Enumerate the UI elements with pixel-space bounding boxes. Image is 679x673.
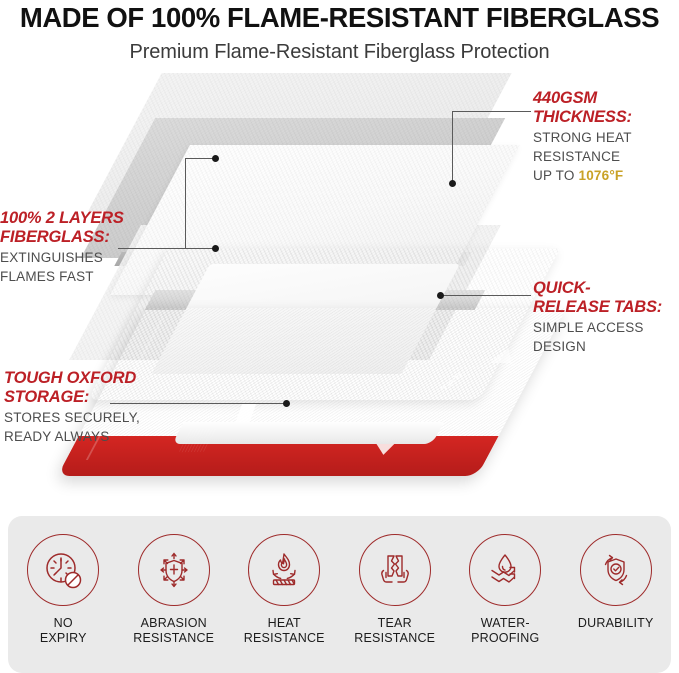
feature-icon-circle <box>248 534 320 606</box>
feature-icon-circle <box>138 534 210 606</box>
leader-line-layers-vertical <box>185 158 186 249</box>
callout-thickness-body: STRONG HEAT RESISTANCE UP TO 1076°F <box>533 129 679 185</box>
feature-label: NO EXPIRY <box>11 616 115 647</box>
page-header: MADE OF 100% FLAME-RESISTANT FIBERGLASS … <box>0 0 679 63</box>
callout-thickness-temperature: 1076°F <box>578 168 623 183</box>
tear-resistance-icon <box>372 547 418 593</box>
oxford-bag-logo <box>236 404 256 422</box>
feature-label: ABRASION RESISTANCE <box>122 616 226 647</box>
feature-panel: NO EXPIRY ABRASION RESISTANCE <box>8 516 671 673</box>
durability-shield-icon <box>593 547 639 593</box>
callout-thickness: 440GSM THICKNESS: STRONG HEAT RESISTANCE… <box>533 89 679 185</box>
feature-label: DURABILITY <box>564 616 668 631</box>
oxford-tab-text: TAB <box>439 369 465 392</box>
leader-line-thickness-vertical <box>452 111 453 183</box>
callout-layers-title: 100% 2 LAYERS FIBERGLASS: <box>0 209 160 246</box>
callout-quick-release: QUICK- RELEASE TABS: SIMPLE ACCESS DESIG… <box>533 279 679 357</box>
feature-no-expiry: NO EXPIRY <box>11 534 115 647</box>
feature-icon-circle <box>359 534 431 606</box>
oxford-arrow-secondary-icon <box>489 348 519 363</box>
callout-dot-thickness <box>449 180 456 187</box>
page-title: MADE OF 100% FLAME-RESISTANT FIBERGLASS <box>0 4 679 33</box>
waterproof-droplet-icon <box>482 547 528 593</box>
callout-oxford-title: TOUGH OXFORD STORAGE: <box>4 369 174 406</box>
callout-dot-quick-release <box>437 292 444 299</box>
feature-icon-circle <box>580 534 652 606</box>
callout-layers: 100% 2 LAYERS FIBERGLASS: EXTINGUISHES F… <box>0 209 160 287</box>
callout-thickness-title: 440GSM THICKNESS: <box>533 89 679 126</box>
leader-line-quick-release <box>441 295 531 296</box>
feature-tear-resistance: TEAR RESISTANCE <box>343 534 447 647</box>
feature-waterproofing: WATER- PROOFING <box>453 534 557 647</box>
callout-quick-release-body: SIMPLE ACCESS DESIGN <box>533 319 679 356</box>
abrasion-shield-icon <box>151 547 197 593</box>
feature-label: HEAT RESISTANCE <box>232 616 336 647</box>
callout-dot-oxford <box>283 400 290 407</box>
heat-flame-icon <box>261 547 307 593</box>
feature-icon-circle <box>27 534 99 606</box>
feature-icon-circle <box>469 534 541 606</box>
callout-oxford: TOUGH OXFORD STORAGE: STORES SECURELY, R… <box>4 369 174 447</box>
callout-dot-layers-lower <box>212 245 219 252</box>
callout-layers-body: EXTINGUISHES FLAMES FAST <box>0 249 160 286</box>
callout-dot-layers-upper <box>212 155 219 162</box>
leader-line-thickness-horizontal <box>452 111 531 112</box>
callout-quick-release-title: QUICK- RELEASE TABS: <box>533 279 679 316</box>
feature-durability: DURABILITY <box>564 534 668 631</box>
leader-line-layers-upper <box>185 158 215 159</box>
feature-abrasion-resistance: ABRASION RESISTANCE <box>122 534 226 647</box>
feature-label: TEAR RESISTANCE <box>343 616 447 647</box>
page-subtitle: Premium Flame-Resistant Fiberglass Prote… <box>0 41 679 63</box>
feature-heat-resistance: HEAT RESISTANCE <box>232 534 336 647</box>
callout-oxford-body: STORES SECURELY, READY ALWAYS <box>4 409 174 446</box>
no-expiry-clock-icon <box>40 547 86 593</box>
feature-label: WATER- PROOFING <box>453 616 557 647</box>
